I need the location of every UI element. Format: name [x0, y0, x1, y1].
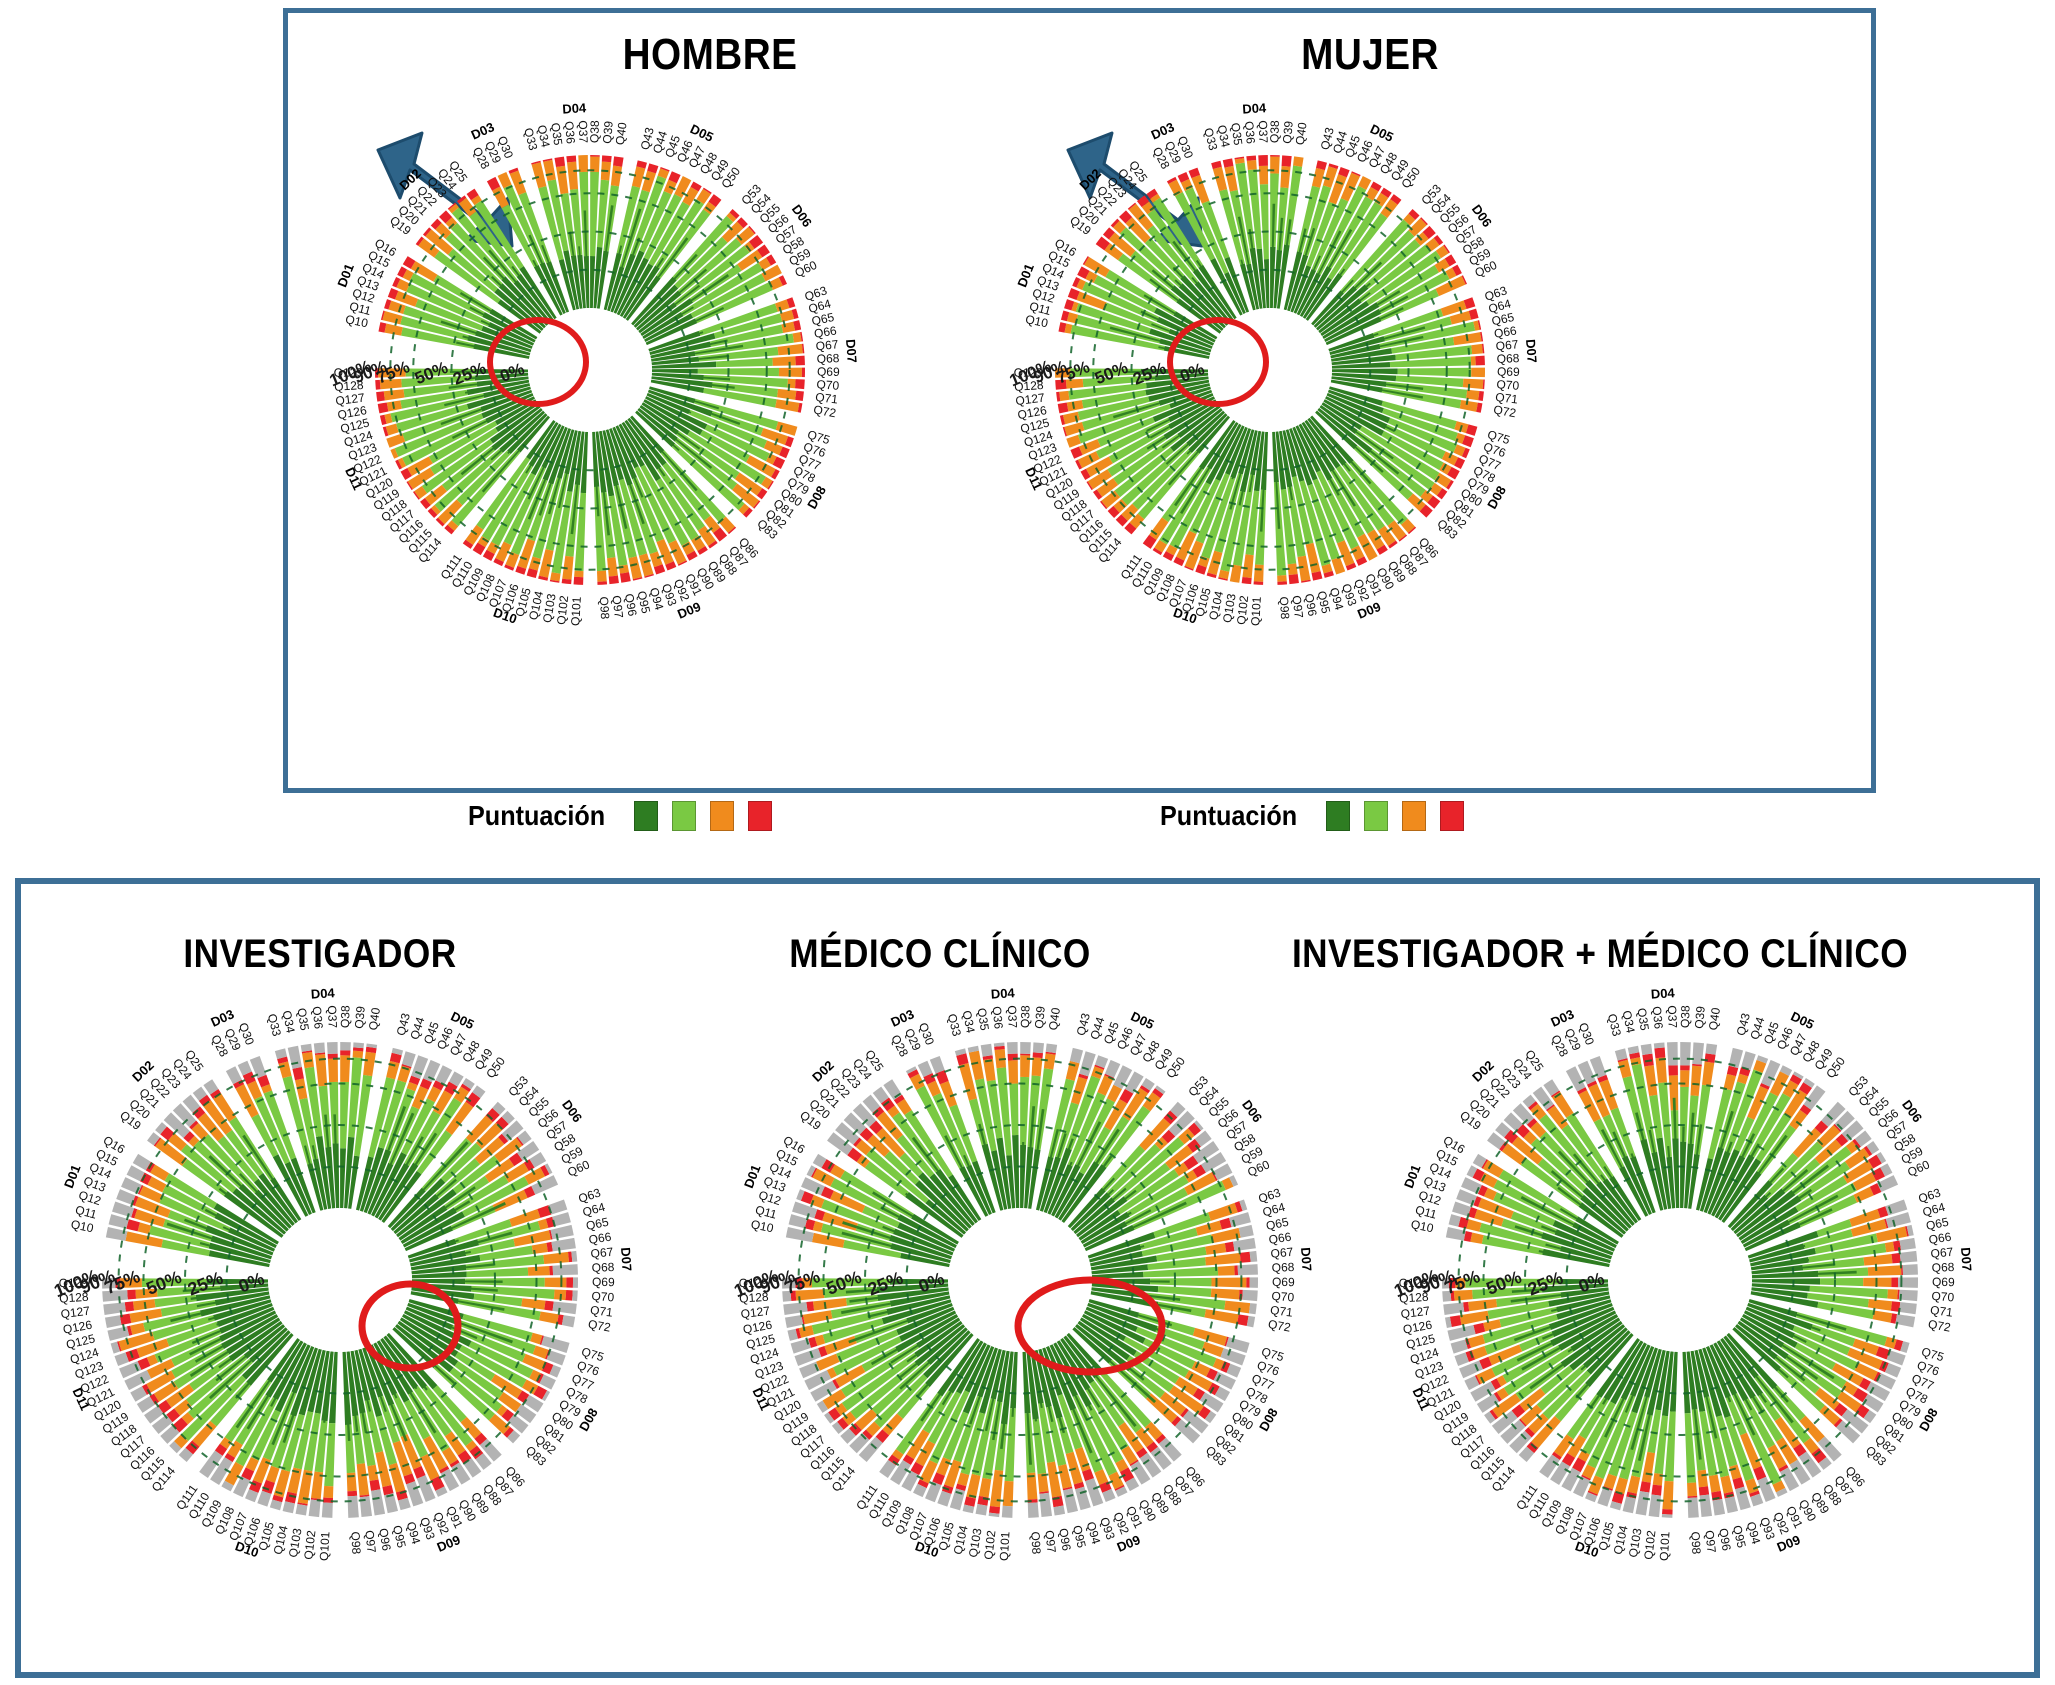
question-label: Q40 [1046, 1006, 1063, 1031]
question-label: Q102 [1641, 1529, 1658, 1560]
domain-label: D04 [562, 100, 587, 116]
question-label: Q39 [1032, 1005, 1048, 1029]
domain-label: D05 [448, 1008, 476, 1032]
domain-label: D01 [1401, 1163, 1424, 1191]
question-label: Q69 [1932, 1275, 1955, 1289]
chart-title-investigador: INVESTIGADOR [109, 932, 531, 977]
axis-tick-label: 0% [916, 1268, 948, 1296]
legend-swatch-light-green [672, 801, 696, 831]
question-label: Q40 [613, 121, 630, 146]
legend-swatch-red [748, 801, 772, 831]
chart-title-medico: MÉDICO CLÍNICO [729, 932, 1151, 977]
legend-swatch-orange [710, 801, 734, 831]
question-label: Q102 [981, 1529, 998, 1560]
question-label: Q36 [310, 1006, 326, 1030]
question-label: Q72 [1267, 1317, 1292, 1335]
question-label: Q40 [366, 1006, 383, 1031]
legend-label: Puntuación [468, 800, 605, 832]
question-label: Q38 [338, 1005, 353, 1028]
question-label: Q36 [1650, 1006, 1666, 1030]
domain-label: D01 [741, 1163, 764, 1191]
question-label: Q97 [1042, 1530, 1058, 1554]
question-label: Q69 [592, 1275, 615, 1289]
legend-swatch-dark-green [1326, 801, 1350, 831]
domain-label: D05 [688, 121, 716, 145]
legend-swatch-red [1440, 801, 1464, 831]
question-label: Q101 [1657, 1531, 1673, 1561]
question-label: Q68 [1931, 1260, 1955, 1275]
question-label: Q101 [317, 1531, 333, 1561]
question-label: Q70 [1931, 1289, 1955, 1305]
question-label: Q69 [1272, 1275, 1295, 1289]
domain-label: D01 [334, 262, 357, 290]
chart-title-mujer: MUJER [1238, 30, 1502, 80]
question-label: Q39 [352, 1005, 368, 1029]
question-label: Q40 [1293, 121, 1310, 146]
question-label: Q36 [1242, 121, 1258, 145]
circular-chart-investigador: Q10Q11Q12Q13Q14Q15Q16D01Q19Q20Q21Q22Q23Q… [40, 980, 640, 1580]
domain-label: D07 [618, 1247, 635, 1272]
domain-label: D04 [310, 985, 335, 1001]
circular-chart-hombre: Q10Q11Q12Q13Q14Q15Q16D01Q19Q20Q21Q22Q23Q… [320, 100, 860, 640]
legend-swatch-light-green [1364, 801, 1388, 831]
domain-label: D07 [1298, 1247, 1315, 1272]
question-label: Q72 [1927, 1317, 1952, 1335]
axis-tick-label: 0% [236, 1268, 268, 1296]
figure-page: HOMBRE MUJER Q10Q11Q12Q13Q14Q15Q16D01Q19… [0, 0, 2055, 1685]
circular-chart-medico: Q10Q11Q12Q13Q14Q15Q16D01Q19Q20Q21Q22Q23Q… [720, 980, 1320, 1580]
chart-title-investigador-medico: INVESTIGADOR + MÉDICO CLÍNICO [1274, 932, 1925, 977]
question-label: Q97 [362, 1530, 378, 1554]
question-label: Q40 [1706, 1006, 1723, 1031]
question-label: Q72 [587, 1317, 612, 1335]
domain-label: D04 [1650, 985, 1675, 1001]
question-label: Q68 [591, 1260, 615, 1275]
legend-label: Puntuación [1160, 800, 1297, 832]
domain-label: D05 [1788, 1008, 1816, 1032]
axis-tick-label: 0% [1576, 1268, 1608, 1296]
question-label: Q98 [348, 1531, 363, 1555]
domain-label: D04 [1242, 100, 1267, 116]
legend-hombre: Puntuación [468, 800, 772, 832]
question-label: Q38 [1678, 1005, 1693, 1028]
question-label: Q98 [1277, 596, 1292, 620]
question-label: Q70 [1271, 1289, 1295, 1305]
question-label: Q36 [562, 121, 578, 145]
question-label: Q39 [1692, 1005, 1708, 1029]
question-label: Q68 [1271, 1260, 1295, 1275]
question-label: Q98 [597, 596, 612, 620]
legend-mujer: Puntuación [1160, 800, 1464, 832]
question-label: Q70 [591, 1289, 615, 1305]
domain-label: D07 [1523, 339, 1540, 364]
question-label: Q67 [590, 1245, 614, 1261]
domain-label: D01 [61, 1163, 84, 1191]
question-label: Q101 [997, 1531, 1013, 1561]
question-label: Q72 [1492, 402, 1517, 420]
legend-swatch-orange [1402, 801, 1426, 831]
question-label: Q98 [1028, 1531, 1043, 1555]
question-label: Q38 [1018, 1005, 1033, 1028]
chart-title-hombre: HOMBRE [578, 30, 842, 80]
question-label: Q102 [301, 1529, 318, 1560]
domain-label: D05 [1368, 121, 1396, 145]
domain-label: D05 [1128, 1008, 1156, 1032]
circular-chart-investigador-medico: Q10Q11Q12Q13Q14Q15Q16D01Q19Q20Q21Q22Q23Q… [1380, 980, 1980, 1580]
question-label: Q36 [990, 1006, 1006, 1030]
domain-label: D07 [843, 339, 860, 364]
question-label: Q67 [1270, 1245, 1294, 1261]
domain-label: D04 [990, 985, 1015, 1001]
domain-label: D07 [1958, 1247, 1975, 1272]
legend-swatch-dark-green [634, 801, 658, 831]
circular-chart-mujer: Q10Q11Q12Q13Q14Q15Q16D01Q19Q20Q21Q22Q23Q… [1000, 100, 1540, 640]
domain-label: D01 [1014, 262, 1037, 290]
question-label: Q67 [1930, 1245, 1954, 1261]
question-label: Q72 [812, 402, 837, 420]
question-label: Q97 [1702, 1530, 1718, 1554]
question-label: Q98 [1688, 1531, 1703, 1555]
